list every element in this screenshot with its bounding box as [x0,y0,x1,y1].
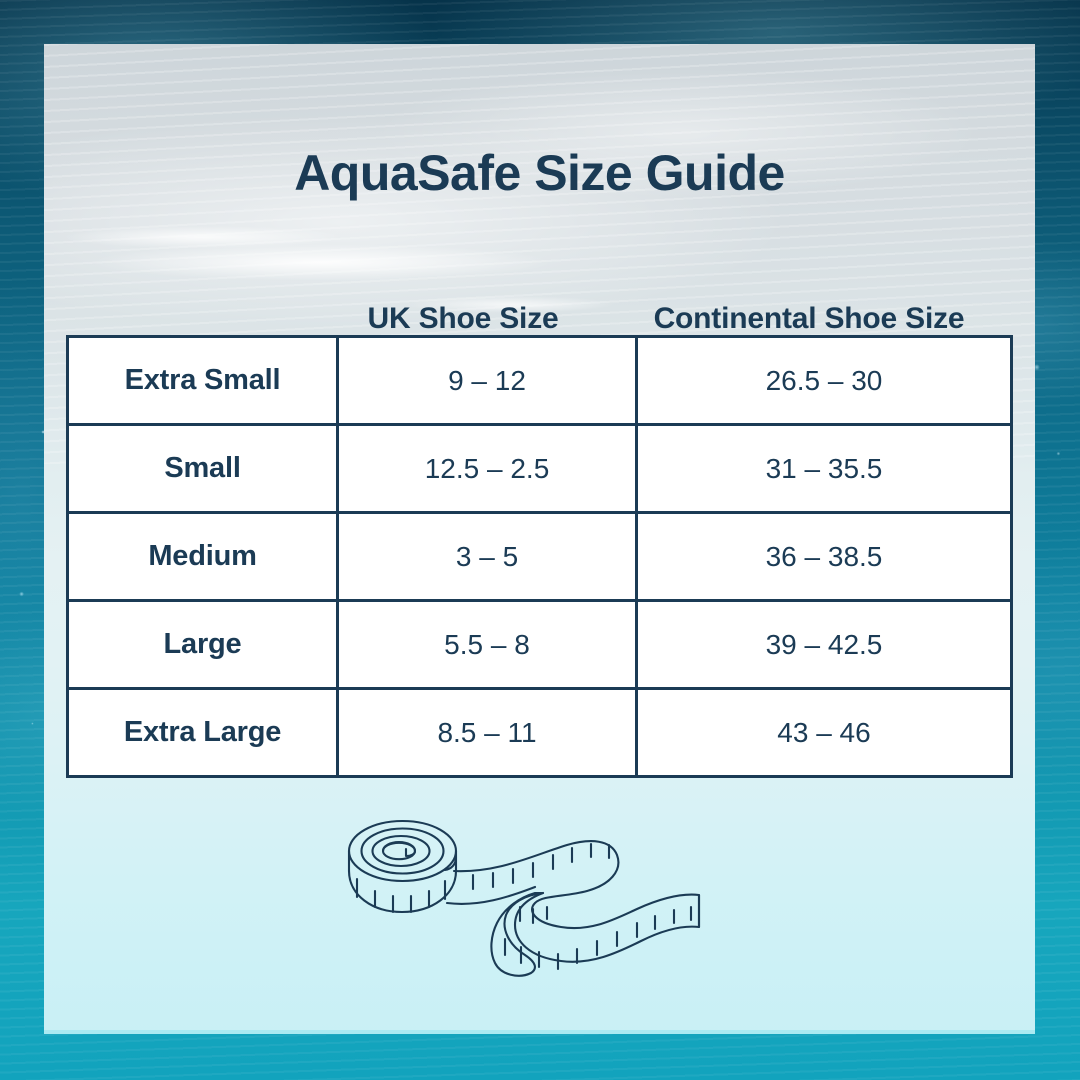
cell-size-label: Large [68,601,338,689]
size-guide-page: AquaSafe Size Guide UK Shoe Size Contine… [0,0,1080,1080]
cell-uk-size: 9 – 12 [338,337,637,425]
page-title: AquaSafe Size Guide [44,144,1035,202]
cell-continental-size: 26.5 – 30 [637,337,1012,425]
cell-continental-size: 31 – 35.5 [637,425,1012,513]
size-guide-card: AquaSafe Size Guide UK Shoe Size Contine… [44,44,1035,1034]
cell-size-label: Medium [68,513,338,601]
table-column-headers: UK Shoe Size Continental Shoe Size [66,302,1013,336]
column-header-spacer [66,302,321,336]
table-row: Large 5.5 – 8 39 – 42.5 [68,601,1012,689]
column-header-uk: UK Shoe Size [321,302,605,336]
cell-uk-size: 5.5 – 8 [338,601,637,689]
cell-continental-size: 39 – 42.5 [637,601,1012,689]
tape-measure-icon [329,799,759,999]
size-table-body: Extra Small 9 – 12 26.5 – 30 Small 12.5 … [68,337,1012,777]
table-row: Small 12.5 – 2.5 31 – 35.5 [68,425,1012,513]
card-bottom-accent [44,1030,1035,1034]
cell-continental-size: 43 – 46 [637,689,1012,777]
column-header-continental-label: Continental Shoe Size [654,302,965,335]
column-header-continental: Continental Shoe Size [605,302,1013,336]
cell-size-label: Extra Large [68,689,338,777]
table-row: Extra Small 9 – 12 26.5 – 30 [68,337,1012,425]
size-table: Extra Small 9 – 12 26.5 – 30 Small 12.5 … [66,335,1013,778]
cell-uk-size: 3 – 5 [338,513,637,601]
column-header-uk-label: UK Shoe Size [368,302,559,335]
cell-size-label: Extra Small [68,337,338,425]
table-row: Extra Large 8.5 – 11 43 – 46 [68,689,1012,777]
cell-uk-size: 8.5 – 11 [338,689,637,777]
cell-uk-size: 12.5 – 2.5 [338,425,637,513]
table-row: Medium 3 – 5 36 – 38.5 [68,513,1012,601]
cell-size-label: Small [68,425,338,513]
cell-continental-size: 36 – 38.5 [637,513,1012,601]
size-table-container: Extra Small 9 – 12 26.5 – 30 Small 12.5 … [66,335,1013,778]
